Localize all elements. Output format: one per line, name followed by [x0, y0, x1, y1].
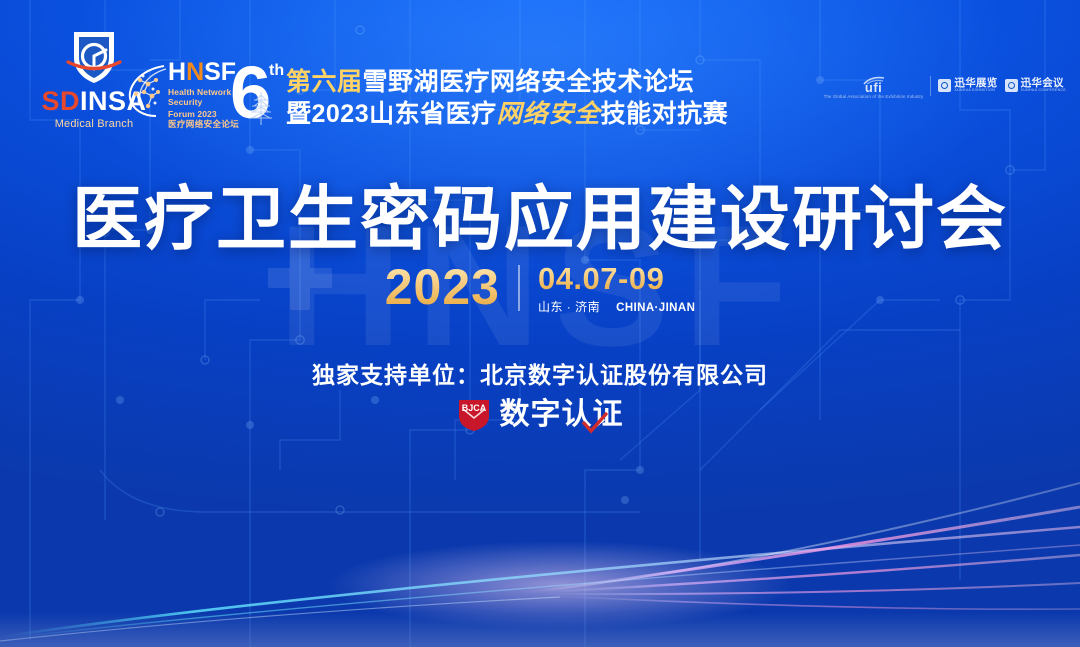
xunhua-exhibition-en: XUNHUA EXHIBITION — [954, 89, 997, 93]
xunhua-conference-badge-icon — [1005, 79, 1018, 92]
edition-ordinal: th — [269, 62, 284, 80]
event-date-block: 2023 04.07-09 山东 · 济南 CHINA·JINAN — [0, 262, 1080, 315]
logo-divider — [930, 76, 931, 96]
hnsf-logo: HNSF Health Network Security Forum 2023 … — [124, 60, 242, 122]
edition-number: 6 th — [230, 56, 292, 130]
event-year: 2023 — [385, 262, 500, 312]
header-line2-prefix: 暨2023山东省医疗 — [286, 100, 497, 128]
conference-banner: HNSF SDINSA Medical Branch — [0, 0, 1080, 647]
sponsor-line: 独家支持单位：北京数字认证股份有限公司 — [0, 356, 1080, 390]
bjca-logo: BJCA 数字认证 — [0, 398, 1080, 432]
bjca-wordmark: 数字认证 — [500, 400, 624, 430]
event-days: 04.07-09 — [538, 263, 695, 294]
event-city-cn: 山东 · 济南 — [538, 298, 600, 315]
header-line-2: 暨2023山东省医疗网络安全技能对抗赛 — [286, 98, 728, 130]
header-line-1: 第六届雪野湖医疗网络安全技术论坛 — [286, 66, 728, 98]
partner-logos: ufi The Global Association of the Exhibi… — [824, 72, 1066, 99]
event-city-en: CHINA·JINAN — [616, 302, 695, 314]
ufi-logo: ufi The Global Association of the Exhibi… — [824, 72, 924, 99]
header-line1-white: 雪野湖医疗网络安全技术论坛 — [363, 68, 695, 96]
xunhua-exhibition-badge-icon — [938, 79, 951, 92]
bjca-badge-text: BJCA — [461, 403, 486, 413]
xunhua-conference-en: XUNHUA CONFERENCE — [1021, 89, 1066, 93]
header-title-block: 第六届雪野湖医疗网络安全技术论坛 暨2023山东省医疗网络安全技能对抗赛 — [286, 66, 728, 130]
xunhua-conference-logo: 迅华会议 XUNHUA CONFERENCE — [1005, 78, 1066, 93]
pagoda-tower-icon — [247, 91, 275, 125]
header-line2-suffix: 技能对抗赛 — [601, 100, 729, 128]
hnsf-globe-icon — [124, 62, 172, 118]
bjca-shield-icon: BJCA — [457, 398, 491, 432]
header-line2-calligraphy: 网络安全 — [497, 99, 601, 128]
xunhua-exhibition-logo: 迅华展览 XUNHUA EXHIBITION — [938, 78, 997, 93]
date-divider — [518, 265, 520, 311]
ufi-subtext: The Global Association of the Exhibition… — [824, 94, 924, 99]
bottom-gradient-overlay — [0, 613, 1080, 647]
hnsf-letter-n: N — [186, 58, 204, 86]
hnsf-letter-h: H — [168, 58, 186, 86]
bjca-check-icon — [582, 410, 608, 432]
sdinsa-shield-icon — [66, 28, 122, 86]
sdinsa-word-red: SD — [41, 86, 80, 116]
page-title: 医疗卫生密码应用建设研讨会 — [0, 163, 1080, 264]
header-line1-gold: 第六届 — [286, 68, 363, 96]
banner-header: SDINSA Medical Branch — [0, 26, 1080, 110]
ufi-wordmark: ufi — [824, 81, 924, 94]
